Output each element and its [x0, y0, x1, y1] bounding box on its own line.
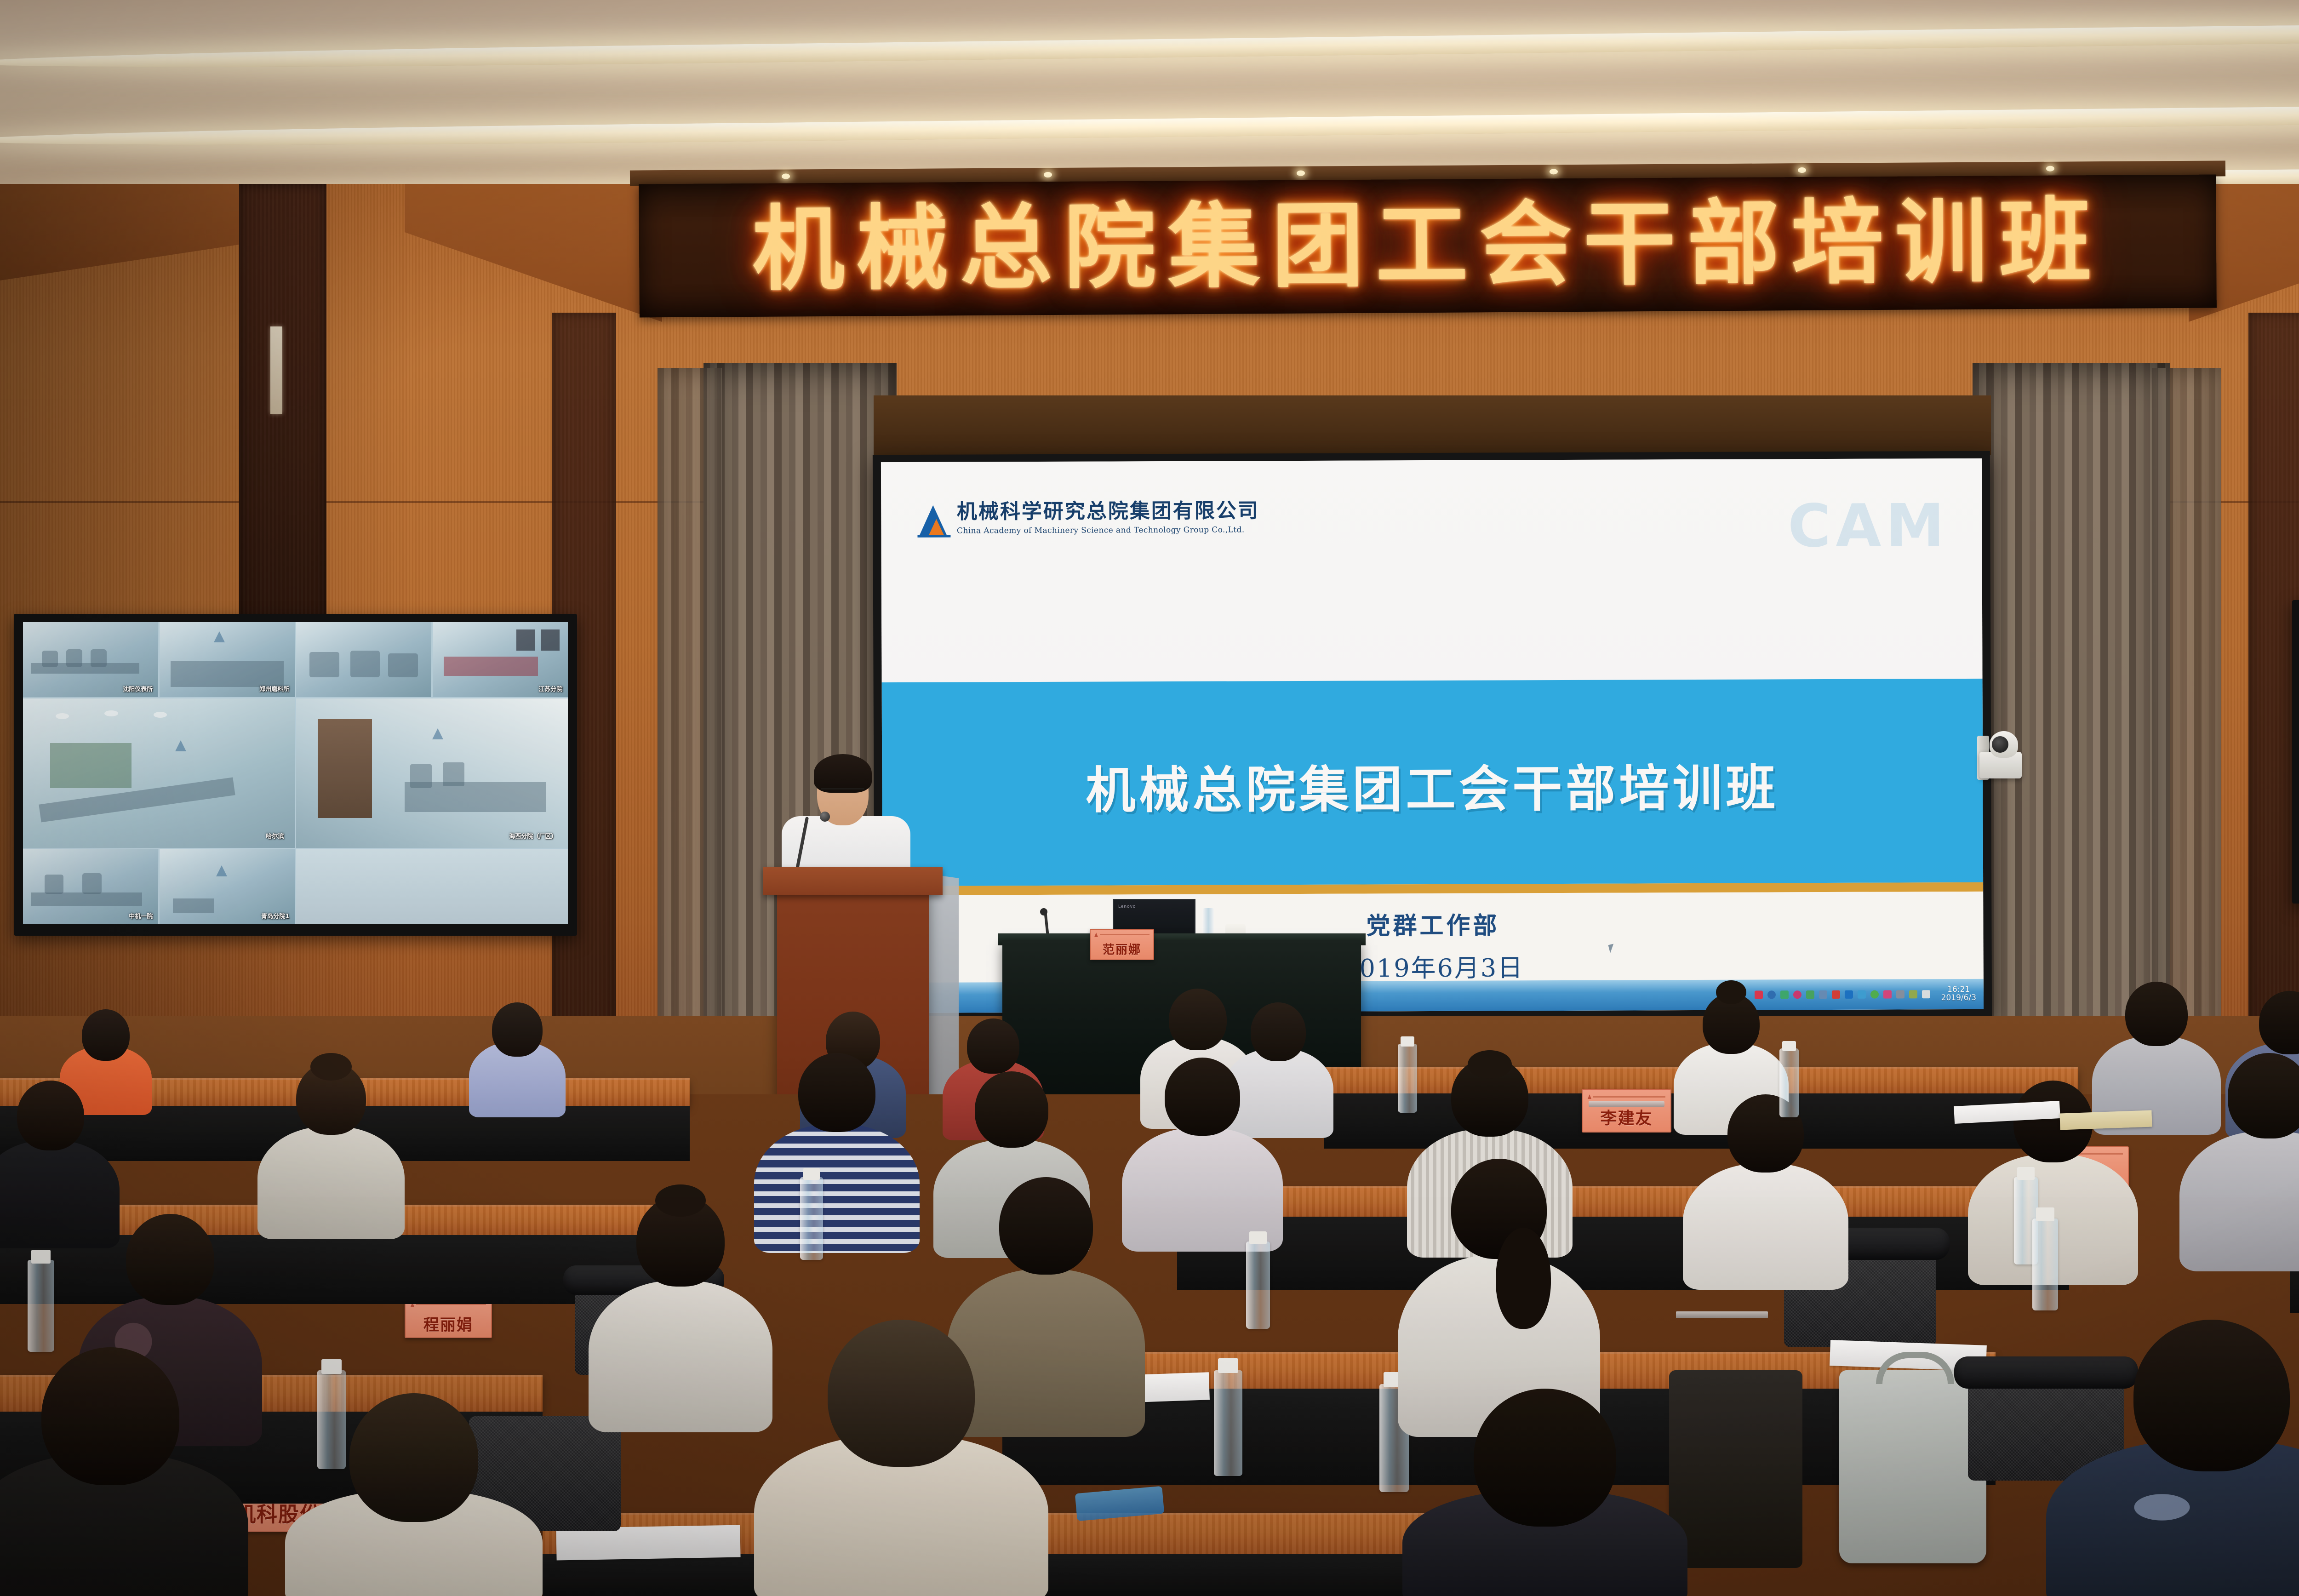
feed-label: 郑州磨料所 — [259, 684, 289, 693]
water-bottle — [1779, 1048, 1799, 1117]
feed-cell: 青岛分院1 — [160, 849, 295, 924]
feed-label: 青岛分院1 — [261, 911, 289, 920]
shield-check-icon[interactable] — [1806, 990, 1814, 999]
microphone-icon — [820, 812, 830, 822]
nameplate-stand — [1589, 1101, 1664, 1107]
attendee-foreground — [754, 1320, 1048, 1596]
camera-lens-icon — [1992, 736, 2008, 753]
bottle-cap — [321, 1359, 342, 1374]
taskbar-clock[interactable]: 16:21 2019/6/3 — [1941, 986, 1976, 1002]
feed-cell-large: 哈尔滨 — [23, 698, 295, 848]
bottle-cap — [2017, 1167, 2035, 1180]
triangle-logo-icon — [916, 501, 950, 538]
water-bottle — [1246, 1241, 1270, 1329]
company-name-en: China Academy of Machinery Science and T… — [957, 526, 1259, 536]
bottle-cap — [31, 1250, 51, 1264]
screen-valance — [874, 395, 1991, 455]
podium-top — [763, 867, 943, 895]
glasses-icon — [821, 788, 864, 797]
company-logo: 机械科学研究总院集团有限公司 China Academy of Machiner… — [916, 499, 1259, 538]
volume-icon[interactable] — [1922, 990, 1930, 998]
feed-label: 中机一院 — [129, 911, 153, 920]
backpack — [1669, 1370, 1802, 1568]
foxit-icon[interactable] — [1883, 990, 1892, 999]
left-video-wall-tv: 沈阳仪表所 郑州磨料所 江苏分院 — [14, 614, 577, 936]
feed-label: 沈阳仪表所 — [123, 684, 153, 693]
slide-title: 机械总院集团工会干部培训班 — [882, 748, 1983, 823]
attendee-foreground — [0, 1347, 248, 1596]
sync-icon[interactable] — [1793, 990, 1801, 999]
cam-watermark: CAM — [1788, 492, 1949, 561]
conference-hall-photo: 机械总院集团工会干部培训班 CAM 机械科学研究总院集团有限公司 China A… — [0, 0, 2299, 1596]
notebook — [2059, 1110, 2152, 1130]
right-video-wall-tv: 沈阳仪表所 郑州磨料所 江苏分院 — [2292, 600, 2299, 904]
led-banner-text: 机械总院集团工会干部培训班 — [639, 195, 2216, 297]
attendee-foreground — [2046, 1320, 2299, 1596]
attendee — [1122, 1058, 1283, 1251]
feed-cell-empty — [296, 849, 568, 924]
water-bottle — [2032, 1218, 2058, 1310]
water-bottle — [1214, 1370, 1242, 1476]
bluetooth-icon[interactable] — [1845, 990, 1853, 999]
speaker-hair — [814, 754, 872, 793]
feed-cell: 沈阳仪表所 — [23, 622, 158, 697]
desk-row-2-right — [1177, 1186, 2069, 1217]
nameplate-text: 李建友 — [1600, 1105, 1653, 1129]
bottle-cap — [2036, 1207, 2054, 1221]
feed-label: 江苏分院 — [538, 684, 562, 693]
bottle-cap — [1782, 1041, 1796, 1051]
laptop-brand-label: Lenovo — [1118, 904, 1136, 909]
bottle-cap — [1401, 1036, 1414, 1047]
network-icon[interactable] — [1858, 990, 1866, 999]
display-icon[interactable] — [1819, 990, 1827, 999]
signal-bars-icon[interactable] — [1909, 990, 1917, 998]
attendee — [469, 1002, 566, 1117]
attendee — [754, 1053, 920, 1251]
attendee — [257, 1062, 405, 1237]
bottle-cap — [1249, 1231, 1267, 1244]
attendee — [589, 1196, 772, 1430]
nameplate-text: 程丽娟 — [423, 1312, 473, 1335]
water-bottle — [28, 1260, 54, 1352]
nameplate-stand — [1676, 1311, 1768, 1318]
feed-label: 哈尔滨 — [266, 831, 284, 840]
company-name-cn: 机械科学研究总院集团有限公司 — [957, 499, 1259, 524]
taskbar-date: 2019/6/3 — [1941, 993, 1976, 1002]
water-bottle — [1398, 1044, 1417, 1113]
microphone-icon — [1040, 908, 1047, 915]
attendee — [1683, 1094, 1848, 1287]
antivirus-icon[interactable] — [1870, 990, 1879, 999]
attendee-foreground — [285, 1393, 543, 1596]
feed-label: 海西分院（厂区） — [509, 831, 557, 840]
water-bottle — [800, 1177, 823, 1260]
feed-cell-large: 海西分院（厂区） — [296, 698, 568, 848]
feed-cell: 江苏分院 — [433, 622, 568, 697]
app-icon[interactable] — [1896, 990, 1904, 998]
front-table-nameplate: 范丽娜 — [1090, 929, 1154, 960]
bottle-cap — [1218, 1358, 1238, 1373]
feed-cell: 郑州磨料所 — [160, 622, 295, 697]
feed-cell: 中机一院 — [23, 849, 158, 924]
nameplate-li-jianyou: 李建友 — [1582, 1089, 1671, 1133]
attendee-foreground — [1402, 1389, 1687, 1596]
led-banner: 机械总院集团工会干部培训班 — [639, 175, 2217, 318]
bottle-cap — [803, 1168, 820, 1180]
speaker-icon[interactable] — [1832, 990, 1840, 999]
nameplate-text: 范丽娜 — [1103, 940, 1141, 957]
left-video-wall-screen: 沈阳仪表所 郑州磨料所 江苏分院 — [23, 622, 568, 924]
feed-cell — [296, 622, 431, 697]
handbag — [1839, 1370, 1986, 1563]
attendee — [2179, 1053, 2299, 1269]
